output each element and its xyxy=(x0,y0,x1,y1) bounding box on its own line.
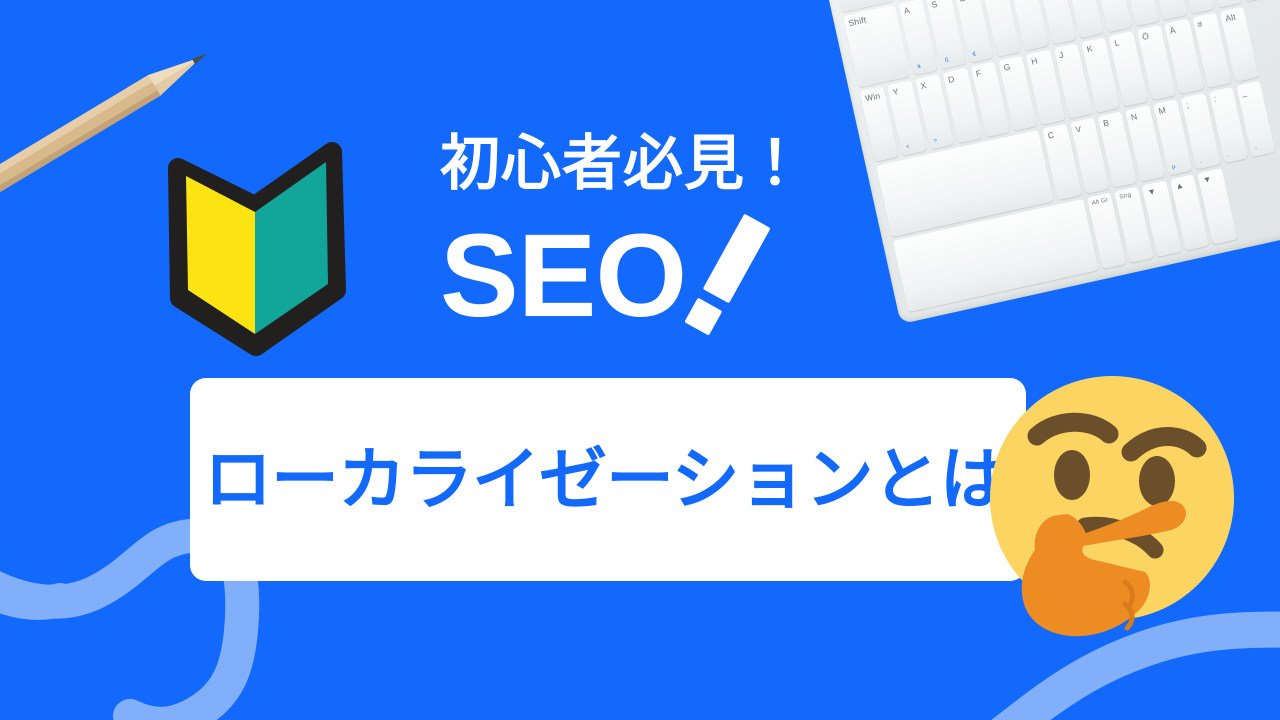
question-card: ローカライゼーションとは？ xyxy=(190,378,1026,581)
key-sublabel: ß xyxy=(944,57,949,64)
key-label: : xyxy=(1213,95,1217,104)
key-label: Strg xyxy=(1119,192,1132,200)
key-label: Ä xyxy=(1169,25,1177,35)
key-label: V xyxy=(1075,125,1083,135)
key-label: E xyxy=(958,0,966,3)
key-label: D xyxy=(947,74,955,84)
key-label: L xyxy=(1114,38,1121,47)
key-label: B xyxy=(1102,119,1110,129)
headline-block: 初心者必見！ SEO xyxy=(440,132,860,327)
qwertz-keyboard-photo: Caps lock@QW4$%5&6/7(8)9=0?ßF9F10F11Shif… xyxy=(814,0,1280,324)
key-label: ▼ xyxy=(1147,187,1157,197)
key-label: N xyxy=(1130,113,1138,123)
key-sublabel: > xyxy=(933,138,938,145)
headline-main-row: SEO xyxy=(440,217,860,327)
key-label: F xyxy=(975,68,982,77)
key-label: ; xyxy=(1186,101,1190,110)
wave-bottom-right-icon xyxy=(1000,630,1280,720)
key-label: S xyxy=(931,0,939,9)
thinking-face-emoji-icon xyxy=(975,368,1250,643)
key-sublabel: ä xyxy=(917,63,922,70)
key-label: H xyxy=(1030,56,1038,66)
poster-canvas: Caps lock@QW4$%5&6/7(8)9=0?ßF9F10F11Shif… xyxy=(0,0,1280,720)
key-label: M xyxy=(1158,106,1167,116)
key-sublabel: < xyxy=(906,144,911,151)
key-label: J xyxy=(1058,50,1064,59)
key-label: Alt xyxy=(1224,12,1236,23)
headline-seo-term: SEO xyxy=(440,217,686,335)
key-label: K xyxy=(1086,44,1094,54)
key-label: _ xyxy=(1241,88,1248,97)
key-label: G xyxy=(1003,62,1011,72)
key-label: X xyxy=(920,81,928,91)
key-label: # xyxy=(1197,19,1204,28)
key-label: Y xyxy=(892,87,900,97)
key-sublabel: - xyxy=(1255,146,1258,152)
key-label: Alt Gr xyxy=(1091,198,1108,207)
key-sublabel: , xyxy=(1199,158,1202,164)
key-label: A xyxy=(903,6,911,16)
key-sublabel: € xyxy=(972,51,977,58)
key-label: ▲ xyxy=(1174,181,1184,191)
headline-kicker: 初心者必見！ xyxy=(440,132,860,195)
key-label: Ö xyxy=(1141,31,1149,41)
shoshinsha-beginner-mark-icon xyxy=(160,138,350,358)
wave-bottom-left-tail-icon xyxy=(0,566,60,603)
key-label: C xyxy=(1047,131,1055,141)
key-sublabel: µ xyxy=(1172,164,1177,171)
key-label: Shift xyxy=(848,15,867,27)
key-label: Win xyxy=(864,91,881,103)
key-label: ▼ xyxy=(1202,175,1212,185)
key-sublabel: . xyxy=(1227,152,1230,158)
question-card-text: ローカライゼーションとは？ xyxy=(204,446,1074,514)
exclamation-mark-icon xyxy=(672,211,782,341)
emoji-right-eye xyxy=(1139,456,1175,506)
emoji-left-eye xyxy=(1054,450,1090,500)
